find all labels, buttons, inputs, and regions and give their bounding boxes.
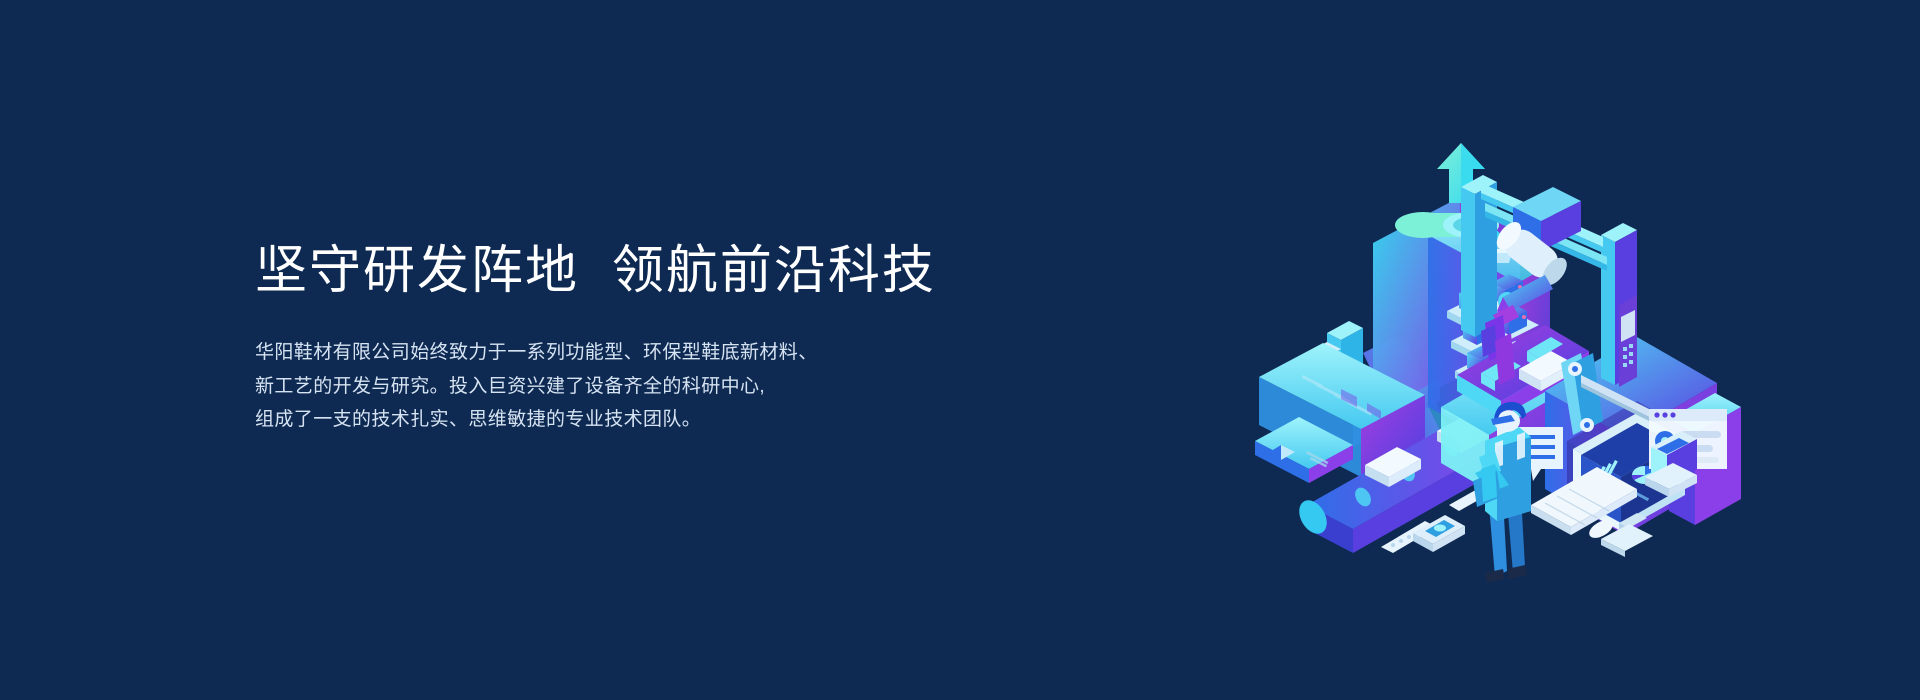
hero-description-line-3: 组成了一支的技术扎实、思维敏捷的专业技术团队。	[255, 403, 1015, 436]
hero-description-line-1: 华阳鞋材有限公司始终致力于一系列功能型、环保型鞋底新材料、	[255, 336, 1015, 369]
page-title: 坚守研发阵地 领航前沿科技	[255, 240, 1015, 302]
isometric-smart-factory-illustration	[1245, 125, 1745, 595]
hero-text-block: 坚守研发阵地 领航前沿科技 华阳鞋材有限公司始终致力于一系列功能型、环保型鞋底新…	[255, 240, 1015, 436]
hero-description-line-2: 新工艺的开发与研究。投入巨资兴建了设备齐全的科研中心,	[255, 370, 1015, 403]
hero-description: 华阳鞋材有限公司始终致力于一系列功能型、环保型鞋底新材料、 新工艺的开发与研究。…	[255, 336, 1015, 436]
hero-banner: 坚守研发阵地 领航前沿科技 华阳鞋材有限公司始终致力于一系列功能型、环保型鞋底新…	[0, 0, 1920, 700]
control-panel	[1619, 295, 1637, 387]
